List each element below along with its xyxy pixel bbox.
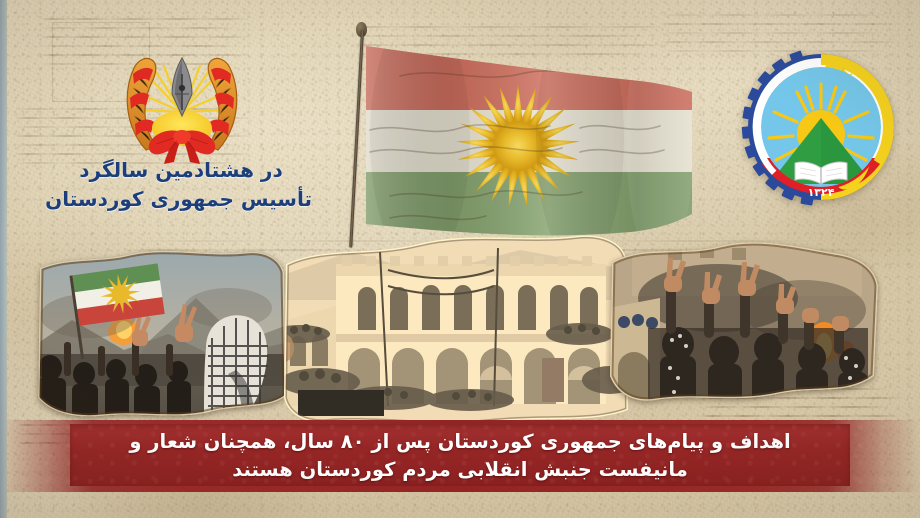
emblem-pen-nib-icon [172, 58, 192, 116]
photo-historic-chwarchira-square-mahabad [280, 230, 630, 426]
poster-root: ۱۳۲۴ در هشتادمین سالگرد تأسیس جمهوری کور… [0, 0, 920, 518]
emblem-date: ۱۳۲۴ [808, 186, 835, 199]
photo-protest-crowd-with-kurdish-flag [28, 246, 290, 421]
emblem-wheat-right-icon [208, 58, 237, 150]
banner-line2: مانیفست جنبش انقلابی مردم کوردستان هستند [232, 456, 688, 484]
banner-line1: اهداف و پیام‌های جمهوری کوردستان پس از ۸… [129, 428, 790, 456]
republic-of-kurdistan-emblem: ۱۳۲۴ [740, 46, 902, 208]
emblem-wheat-left-icon [127, 58, 156, 150]
photo-raised-hands-crowd-with-fire [608, 236, 890, 422]
kurdistan-flag [330, 18, 700, 253]
photo-collage [0, 226, 920, 431]
banner-text: اهداف و پیام‌های جمهوری کوردستان پس از ۸… [0, 420, 920, 492]
bottom-banner: اهداف و پیام‌های جمهوری کوردستان پس از ۸… [0, 420, 920, 492]
page-title: در هشتادمین سالگرد تأسیس جمهوری کوردستان [50, 156, 312, 214]
page-title-line1: در هشتادمین سالگرد [50, 156, 312, 185]
page-title-line2: تأسیس جمهوری کوردستان [50, 185, 312, 214]
flag-cloth [330, 18, 700, 253]
left-edge-strip [0, 0, 7, 518]
pen-and-wheat-emblem [112, 24, 252, 166]
